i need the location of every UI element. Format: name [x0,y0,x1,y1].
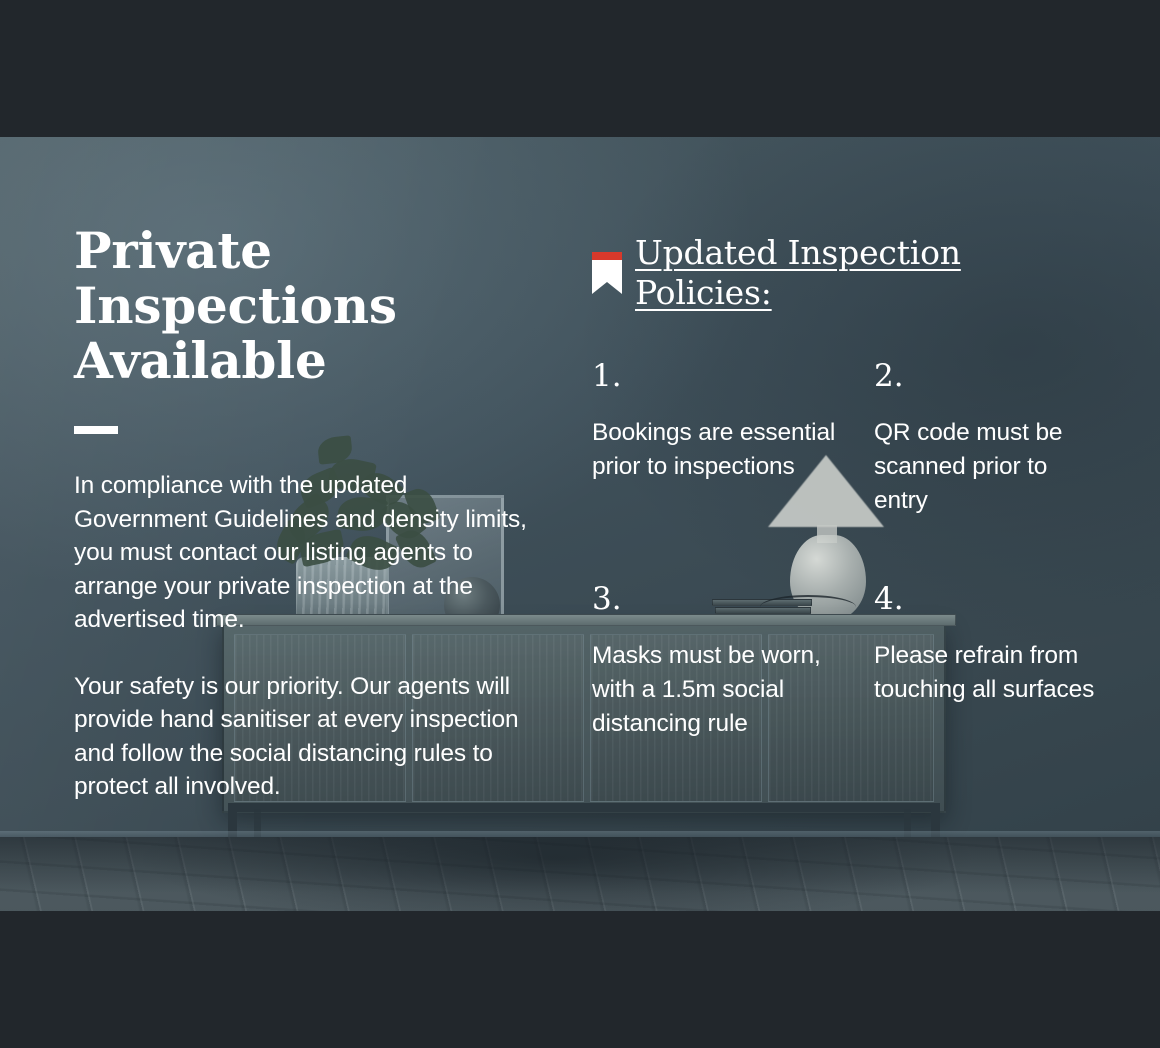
policy-number: 2. [874,359,1102,393]
letterbox-bar-bottom [0,911,1160,1048]
policy-number: 4. [874,582,1102,616]
letterbox-bar-top [0,0,1160,137]
policy-number: 1. [592,359,874,393]
policy-text: Masks must be worn, with a 1.5m social d… [592,639,842,741]
policy-item-1: 1. Bookings are essential prior to inspe… [592,359,874,518]
page-title: Private Inspections Available [74,223,544,388]
policy-item-4: 4. Please refrain from touching all surf… [874,582,1102,741]
slide-canvas: Private Inspections Available In complia… [0,0,1160,1048]
policy-text: QR code must be scanned prior to entry [874,416,1102,518]
policy-item-3: 3. Masks must be worn, with a 1.5m socia… [592,582,874,741]
policy-text: Please refrain from touching all surface… [874,639,1102,707]
left-column: Private Inspections Available In complia… [74,223,544,804]
intro-paragraph-2: Your safety is our priority. Our agents … [74,670,544,804]
slide-content: Private Inspections Available In complia… [0,137,1160,911]
policy-number: 3. [592,582,874,616]
intro-paragraph-1: In compliance with the updated Governmen… [74,469,544,637]
right-column: Updated Inspection Policies: 1. Bookings… [592,233,1102,741]
policy-text: Bookings are essential prior to inspecti… [592,416,842,484]
policy-grid: 1. Bookings are essential prior to inspe… [592,359,1102,741]
policies-heading-text: Updated Inspection Policies: [635,233,1102,313]
policy-item-2: 2. QR code must be scanned prior to entr… [874,359,1102,518]
title-divider-rule [74,426,118,434]
policies-heading-row: Updated Inspection Policies: [592,233,1102,313]
bookmark-icon [592,252,622,294]
